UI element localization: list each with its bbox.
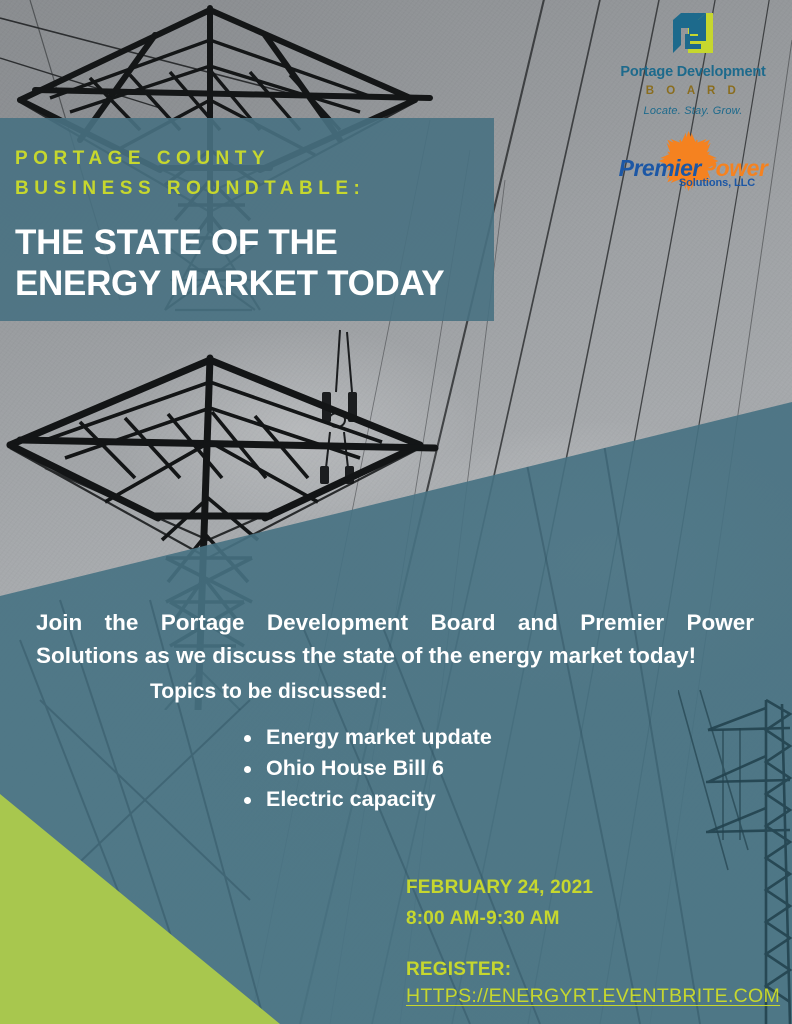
topics-list: Energy market update Ohio House Bill 6 E… [236, 722, 492, 815]
event-date: FEBRUARY 24, 2021 [406, 872, 780, 903]
premier-power-logo: PremierPower Solutions, LLC [602, 129, 784, 193]
logo-block: Portage Development B O A R D Locate. St… [602, 8, 784, 193]
register-label: REGISTER: [406, 954, 780, 985]
event-time: 8:00 AM-9:30 AM [406, 903, 780, 934]
title-panel: PORTAGE COUNTY BUSINESS ROUNDTABLE: THE … [0, 118, 494, 321]
event-details: FEBRUARY 24, 2021 8:00 AM-9:30 AM REGIST… [406, 872, 780, 1008]
page-title: THE STATE OF THE ENERGY MARKET TODAY [15, 222, 444, 304]
topics-heading: Topics to be discussed: [150, 680, 388, 704]
lead-paragraph: Join the Portage Development Board and P… [36, 606, 754, 672]
portage-development-board-logo-icon [668, 8, 718, 58]
lead-line-2: Solutions as we discuss the state of the… [36, 639, 754, 672]
pdb-board-text: B O A R D [602, 85, 784, 97]
list-item: Ohio House Bill 6 [236, 753, 492, 784]
register-link[interactable]: HTTPS://ENERGYRT.EVENTBRITE.COM [406, 985, 780, 1008]
pdb-name-text: Portage Development [602, 64, 784, 80]
event-flyer: PORTAGE COUNTY BUSINESS ROUNDTABLE: THE … [0, 0, 792, 1024]
eyebrow-text: PORTAGE COUNTY BUSINESS ROUNDTABLE: [15, 144, 365, 204]
list-item: Energy market update [236, 722, 492, 753]
lead-line-1: Join the Portage Development Board and P… [36, 606, 754, 639]
list-item: Electric capacity [236, 784, 492, 815]
premier-power-subtitle: Solutions, LLC [602, 177, 784, 189]
pdb-tagline-text: Locate. Stay. Grow. [602, 105, 784, 117]
